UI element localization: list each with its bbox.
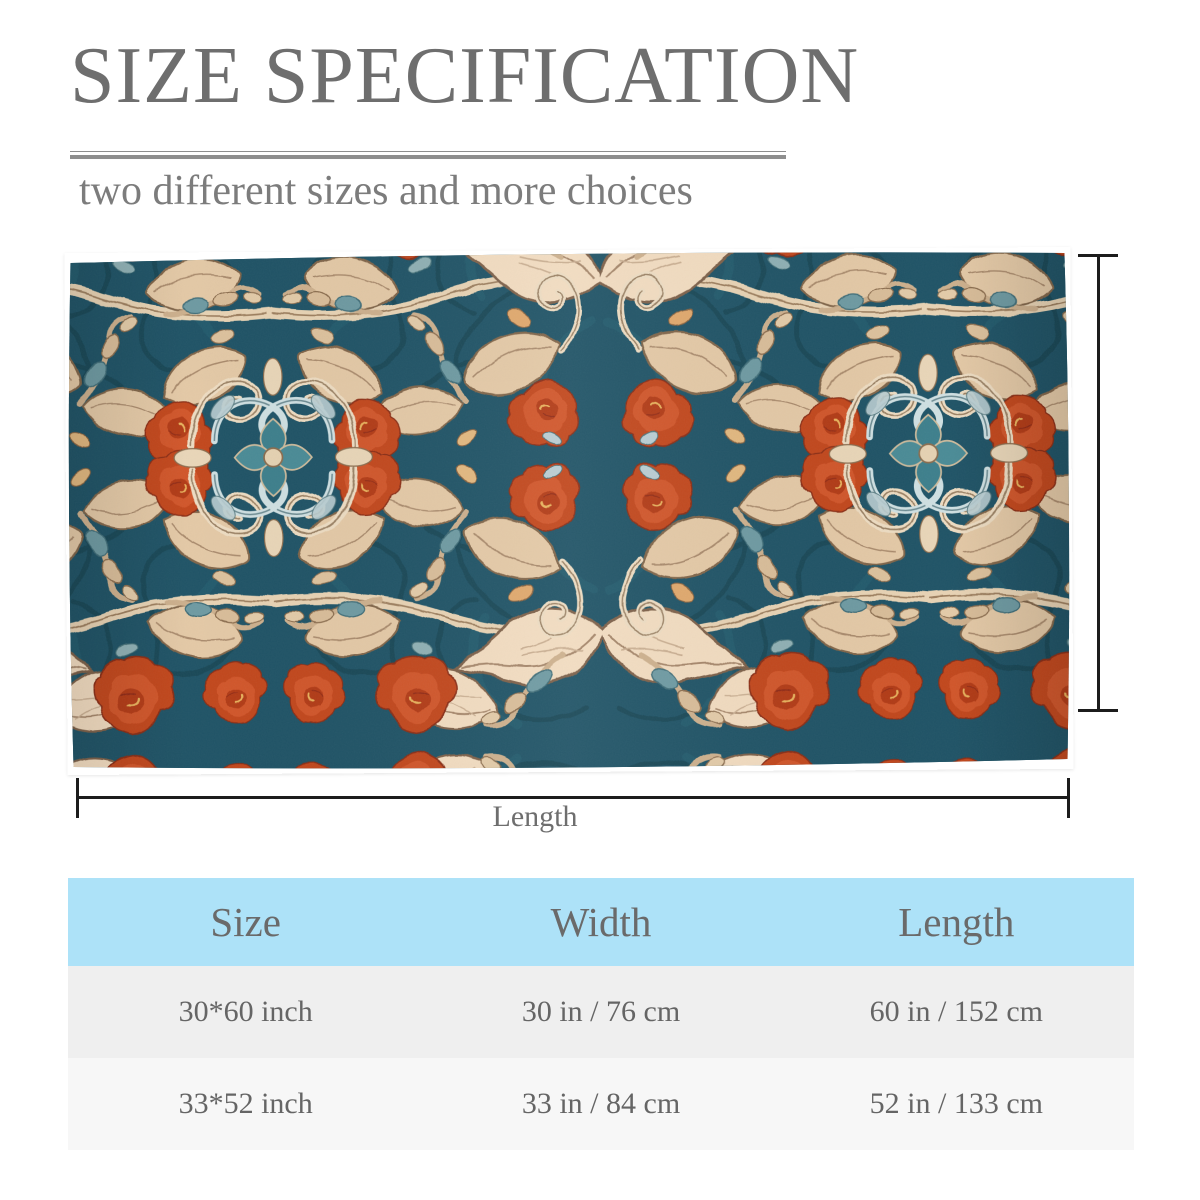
product-image-area (66, 250, 1072, 772)
divider-line-thick (70, 155, 786, 159)
cell-width: 33 in / 84 cm (423, 1058, 778, 1150)
cell-width: 30 in / 76 cm (423, 966, 778, 1058)
page-subtitle: two different sizes and more choices (79, 166, 693, 216)
table-row: 33*52 inch 33 in / 84 cm 52 in / 133 cm (68, 1058, 1134, 1150)
column-header-width: Width (423, 878, 778, 966)
floral-pattern-svg (64, 247, 1073, 775)
column-header-length: Length (779, 878, 1134, 966)
page-title: SIZE SPECIFICATION (70, 34, 1130, 118)
cell-length: 52 in / 133 cm (779, 1058, 1134, 1150)
size-specification-page: SIZE SPECIFICATION two different sizes a… (0, 0, 1200, 1200)
length-dimension-label: Length (0, 800, 1070, 834)
width-dimension-line (1078, 254, 1120, 712)
width-cap-bottom (1078, 709, 1118, 712)
towel-image (64, 247, 1073, 775)
column-header-size: Size (68, 878, 423, 966)
width-bar (1097, 254, 1100, 712)
title-divider (70, 151, 786, 159)
cell-size: 33*52 inch (68, 1058, 423, 1150)
header-block: SIZE SPECIFICATION two different sizes a… (70, 34, 1130, 118)
cell-length: 60 in / 152 cm (779, 966, 1134, 1058)
table-row: 30*60 inch 30 in / 76 cm 60 in / 152 cm (68, 966, 1134, 1058)
cell-size: 30*60 inch (68, 966, 423, 1058)
size-table: Size Width Length 30*60 inch 30 in / 76 … (68, 878, 1134, 1150)
length-bar (76, 796, 1070, 799)
table-header-row: Size Width Length (68, 878, 1134, 966)
